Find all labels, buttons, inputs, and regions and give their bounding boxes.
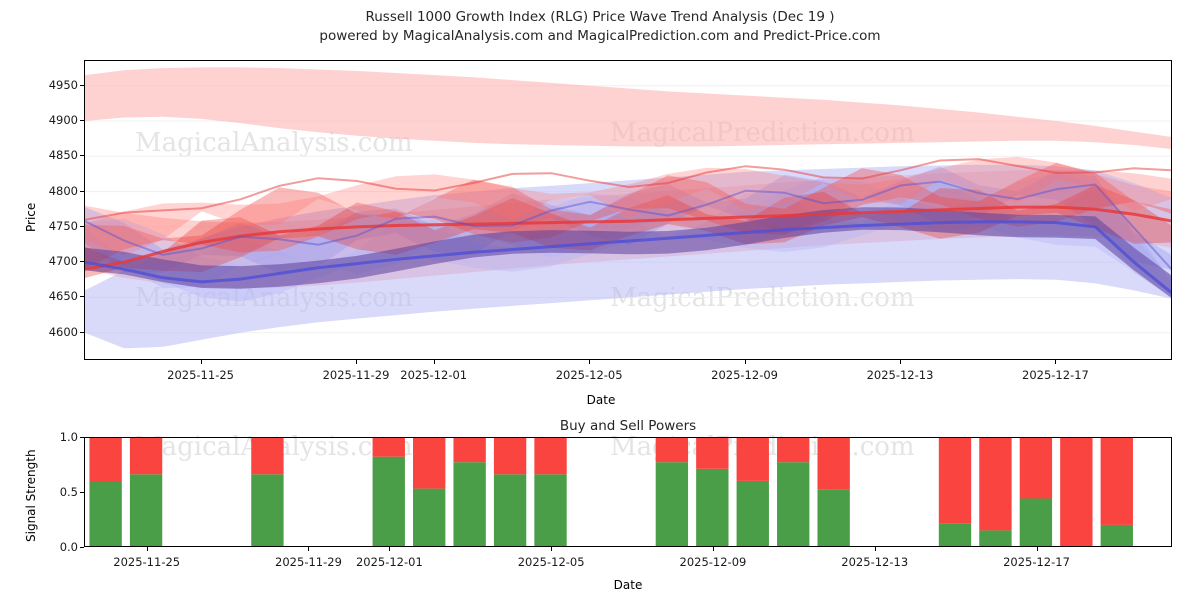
bars-xtick: 2025-12-17 (1003, 555, 1070, 569)
price-xtick: 2025-12-13 (867, 368, 934, 382)
price-xtick: 2025-12-09 (711, 368, 778, 382)
page-title: Russell 1000 Growth Index (RLG) Price Wa… (0, 8, 1200, 46)
bars-xtick: 2025-12-05 (518, 555, 585, 569)
price-ytick: 4900 (36, 113, 78, 127)
price-ytick: 4700 (36, 254, 78, 268)
price-wave-chart (84, 60, 1172, 360)
price-xtick: 2025-11-25 (167, 368, 234, 382)
bars-xtick: 2025-12-01 (356, 555, 423, 569)
buy-sell-powers-chart (84, 437, 1172, 547)
bars-xtick: 2025-11-25 (113, 555, 180, 569)
bars-xtick: 2025-12-13 (841, 555, 908, 569)
bars-title: Buy and Sell Powers (560, 418, 696, 434)
title-line-2: powered by MagicalAnalysis.com and Magic… (0, 27, 1200, 46)
price-ytick: 4800 (36, 184, 78, 198)
price-xlabel: Date (587, 393, 616, 407)
bars-ytick: 0.5 (36, 485, 78, 499)
title-line-1: Russell 1000 Growth Index (RLG) Price Wa… (0, 8, 1200, 27)
bars-xtick: 2025-12-09 (680, 555, 747, 569)
price-xtick: 2025-12-17 (1022, 368, 1089, 382)
price-ytick: 4950 (36, 78, 78, 92)
price-xtick: 2025-11-29 (323, 368, 390, 382)
chart-page: Russell 1000 Growth Index (RLG) Price Wa… (0, 0, 1200, 600)
price-ytick: 4850 (36, 148, 78, 162)
bars-ytick: 1.0 (36, 430, 78, 444)
bars-xlabel: Date (614, 578, 643, 592)
price-ytick: 4750 (36, 219, 78, 233)
price-ylabel: Price (24, 203, 38, 232)
price-ytick: 4650 (36, 289, 78, 303)
price-xtick: 2025-12-01 (400, 368, 467, 382)
bars-xtick: 2025-11-29 (275, 555, 342, 569)
price-ytick: 4600 (36, 325, 78, 339)
bars-ylabel: Signal Strength (24, 449, 38, 542)
bars-ytick: 0.0 (36, 540, 78, 554)
price-xtick: 2025-12-05 (556, 368, 623, 382)
